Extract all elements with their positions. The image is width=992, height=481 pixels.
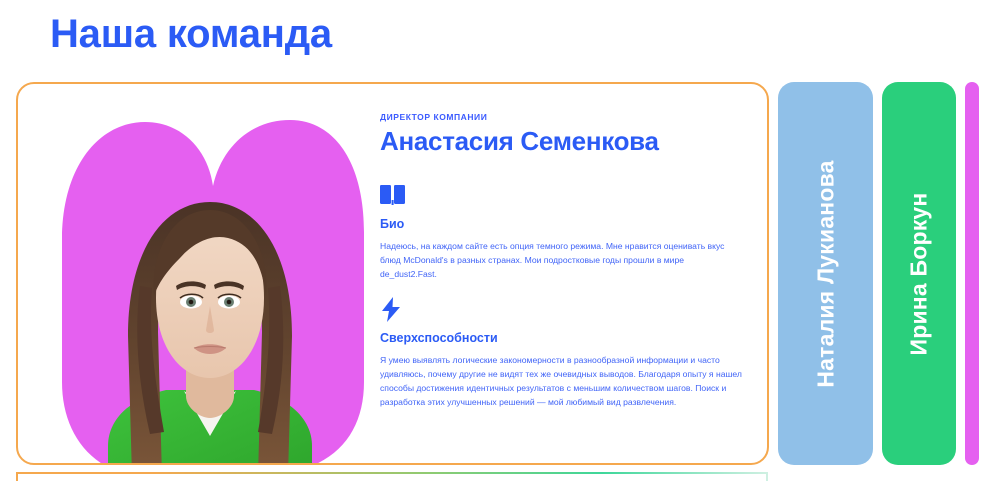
member-details: ДИРЕКТОР КОМПАНИИ Анастасия Семенкова Би… — [380, 112, 752, 426]
team-section-page: Наша команда — [0, 0, 992, 481]
member-tab-irina-borkun[interactable]: Ирина Боркун — [882, 82, 956, 465]
bio-block: Био Надеюсь, на каждом сайте есть опция … — [380, 183, 752, 282]
superpowers-heading: Сверхспособности — [380, 331, 752, 345]
member-role: ДИРЕКТОР КОМПАНИИ — [380, 112, 752, 122]
bio-text: Надеюсь, на каждом сайте есть опция темн… — [380, 240, 742, 282]
member-tab-next[interactable] — [965, 82, 979, 465]
bio-heading: Био — [380, 217, 752, 231]
member-portrait-photo — [88, 146, 332, 465]
team-accordion: ДИРЕКТОР КОМПАНИИ Анастасия Семенкова Би… — [16, 82, 992, 465]
superpowers-block: Сверхспособности Я умею выявлять логичес… — [380, 297, 752, 410]
open-book-icon — [380, 183, 752, 209]
lightning-bolt-icon — [380, 297, 752, 323]
page-title: Наша команда — [50, 8, 332, 60]
member-card-expanded[interactable]: ДИРЕКТОР КОМПАНИИ Анастасия Семенкова Би… — [16, 82, 769, 465]
member-name: Анастасия Семенкова — [380, 126, 752, 157]
member-tab-label: Наталия Лукианова — [812, 160, 839, 387]
superpowers-text: Я умею выявлять логические закономерност… — [380, 354, 742, 410]
member-tab-label: Ирина Боркун — [906, 192, 933, 355]
member-photo-area — [40, 102, 342, 465]
member-tab-natalia-lukianova[interactable]: Наталия Лукианова — [778, 82, 873, 465]
next-member-card-peek[interactable] — [16, 472, 768, 481]
